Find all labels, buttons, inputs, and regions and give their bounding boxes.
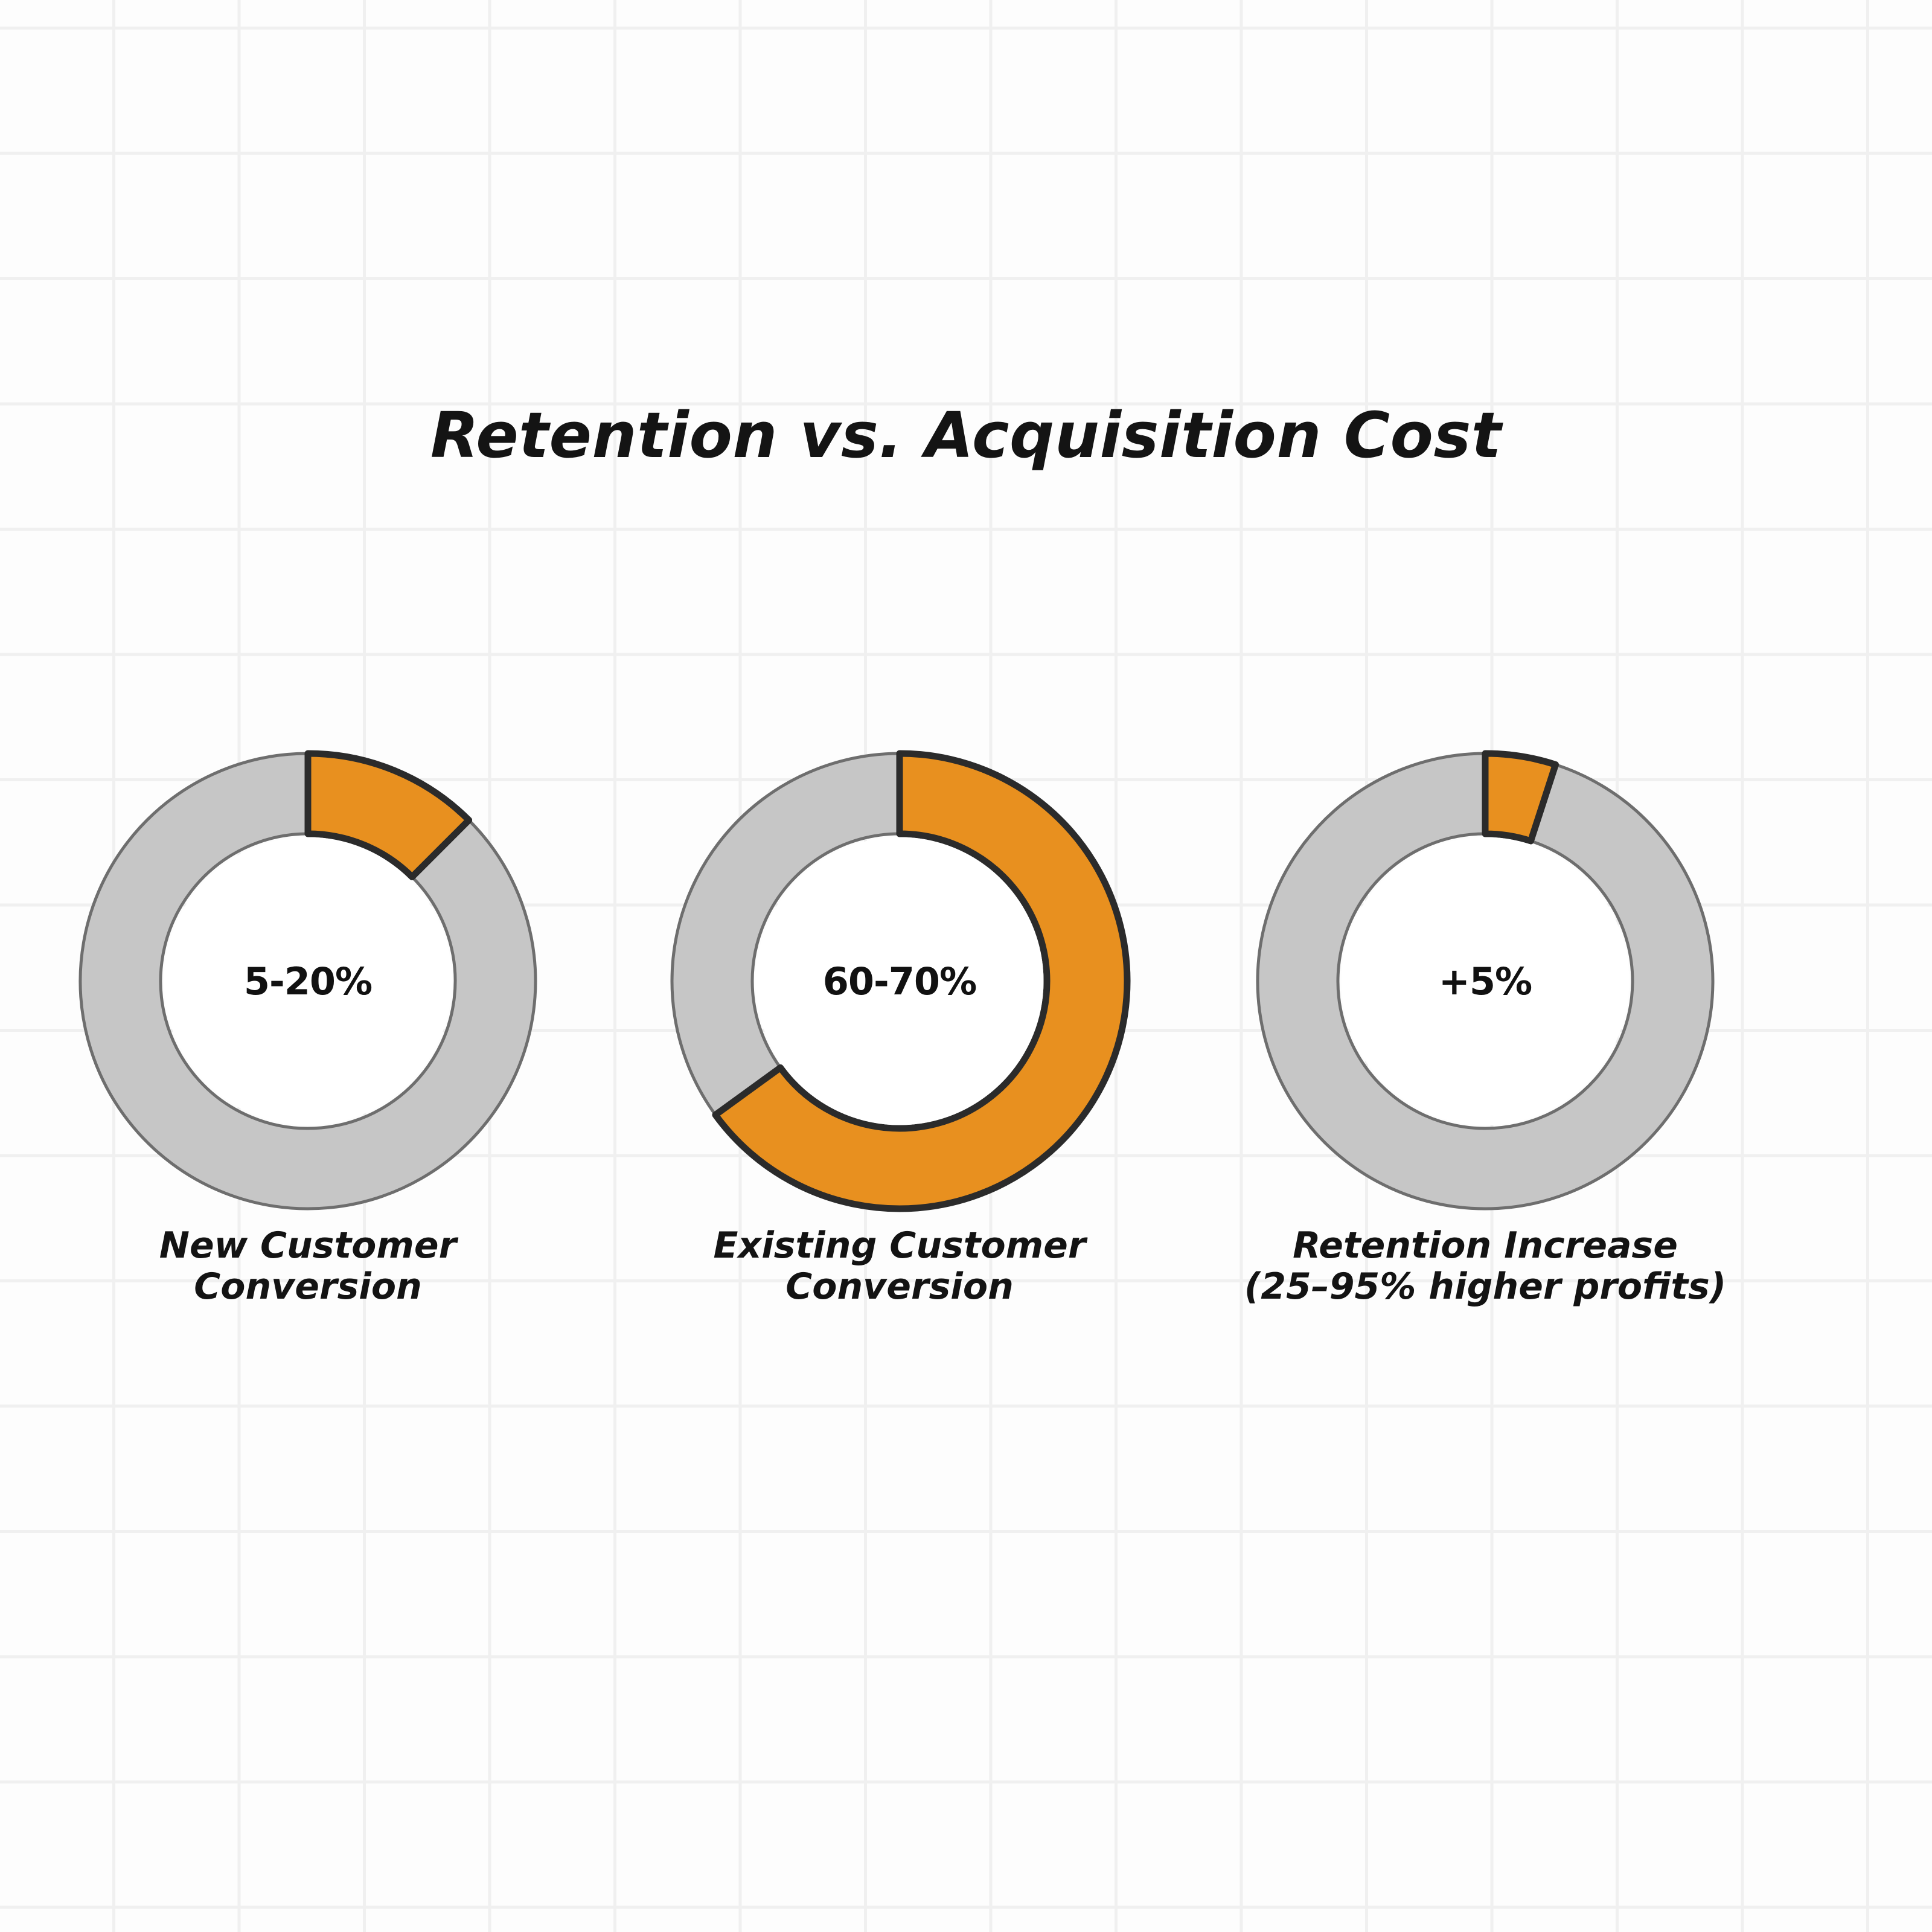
donut-caption-1: Existing Customer Conversion: [652, 1226, 1147, 1308]
donut-chart-existing-customer-conversion: 60-70% Existing Customer Conversion: [652, 743, 1147, 1286]
donut-caption-2: Retention Increase (25–95% higher profit…: [1201, 1226, 1769, 1308]
donut-hole-0: [164, 837, 452, 1125]
donut-svg-2: [1247, 743, 1724, 1220]
donut-svg-1: [661, 743, 1138, 1220]
page-title: Retention vs. Acquisition Cost: [0, 398, 1932, 472]
donut-caption-0: New Customer Conversion: [60, 1226, 555, 1308]
donut-chart-retention-increase: +5% Retention Increase (25–95% higher pr…: [1238, 743, 1733, 1286]
donut-svg-0: [69, 743, 546, 1220]
donut-chart-row: 5-20% New Customer Conversion 60-70% Exi…: [0, 743, 1932, 1286]
donut-graphic-2: +5%: [1247, 743, 1724, 1220]
donut-graphic-1: 60-70%: [661, 743, 1138, 1220]
donut-chart-new-customer-conversion: 5-20% New Customer Conversion: [60, 743, 555, 1286]
donut-hole-2: [1342, 837, 1630, 1125]
donut-hole-1: [756, 837, 1044, 1125]
donut-graphic-0: 5-20%: [69, 743, 546, 1220]
